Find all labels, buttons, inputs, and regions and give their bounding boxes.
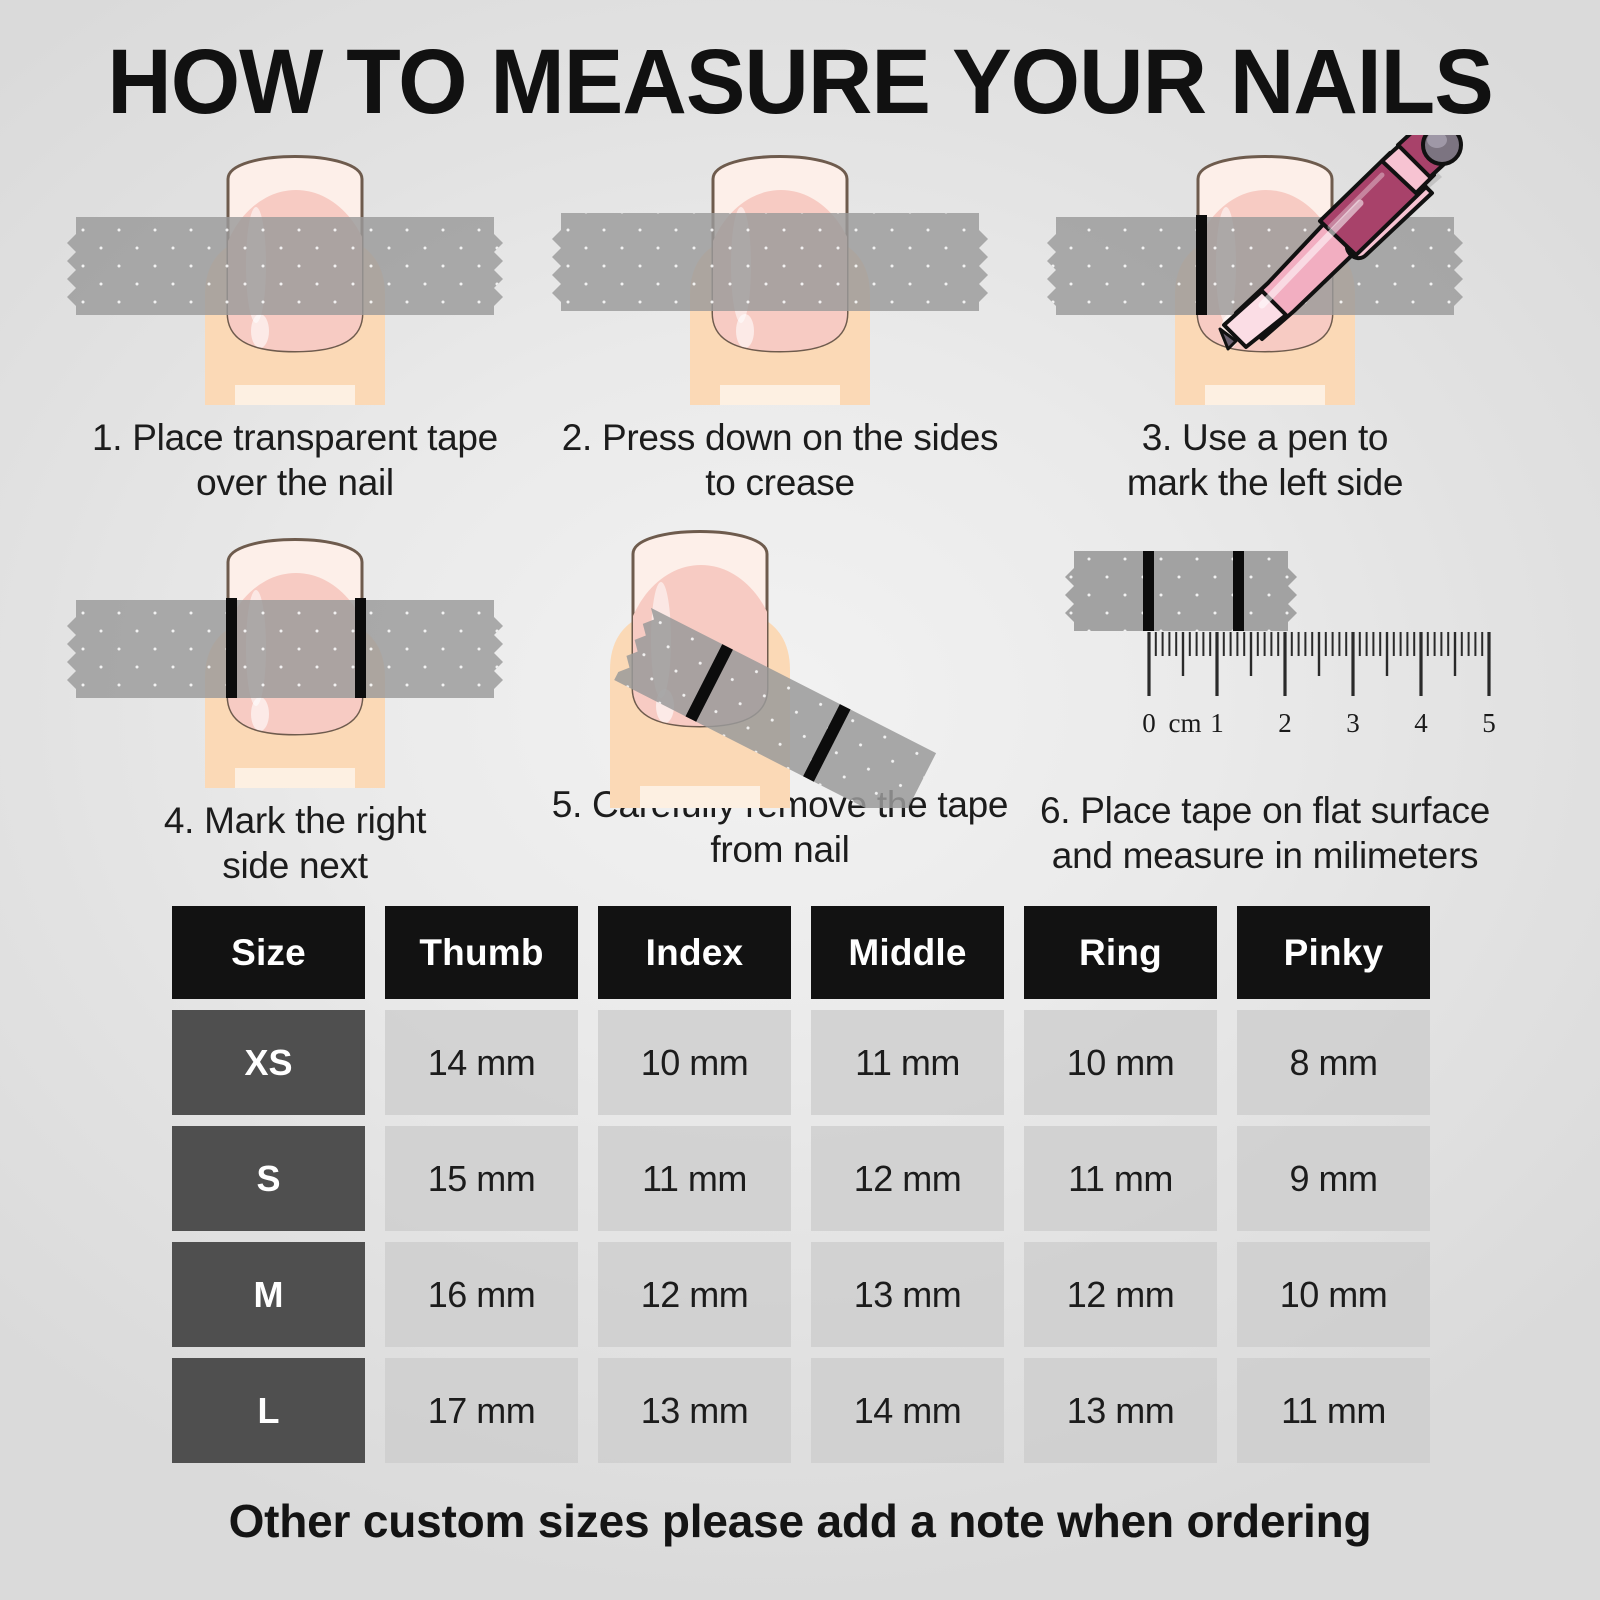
measure-cell-index: 11 mm <box>598 1126 791 1231</box>
finger-illustration-tape-removed <box>545 518 1015 808</box>
step-2-caption-line2: to crease <box>545 460 1015 505</box>
ruler-unit-label: cm <box>1167 708 1203 739</box>
left-mark <box>226 598 237 698</box>
finger-illustration-creased <box>545 135 1015 405</box>
step-1-caption-line1: 1. Place transparent tape <box>60 415 530 460</box>
size-label-cell: XS <box>172 1010 365 1115</box>
step-4-illustration <box>60 518 530 788</box>
measure-cell-ring: 10 mm <box>1024 1010 1217 1115</box>
step-1-caption-line2: over the nail <box>60 460 530 505</box>
step-2-caption-line1: 2. Press down on the sides <box>545 415 1015 460</box>
measure-cell-thumb: 17 mm <box>385 1358 578 1463</box>
step-3-caption-line2: mark the left side <box>1030 460 1500 505</box>
page-title: HOW TO MEASURE YOUR NAILS <box>24 30 1576 135</box>
infographic-page: HOW TO MEASURE YOUR NAILS <box>0 0 1600 1600</box>
table-header-pinky: Pinky <box>1237 906 1430 999</box>
finger-illustration-both-marks <box>60 518 530 788</box>
measure-cell-thumb: 16 mm <box>385 1242 578 1347</box>
tape-strip <box>67 600 503 698</box>
size-label-cell: M <box>172 1242 365 1347</box>
step-5-illustration <box>545 518 1015 788</box>
step-3-caption-line1: 3. Use a pen to <box>1030 415 1500 460</box>
measure-cell-ring: 13 mm <box>1024 1358 1217 1463</box>
step-2-illustration <box>545 135 1015 405</box>
measure-cell-pinky: 11 mm <box>1237 1358 1430 1463</box>
tape-strip <box>67 217 503 315</box>
measure-cell-thumb: 14 mm <box>385 1010 578 1115</box>
table-header-middle: Middle <box>811 906 1004 999</box>
ruler-label-5: 5 <box>1471 708 1507 739</box>
step-3-caption: 3. Use a pen to mark the left side <box>1030 415 1500 505</box>
step-4-caption-line1: 4. Mark the right <box>60 798 530 843</box>
measure-cell-thumb: 15 mm <box>385 1126 578 1231</box>
table-body: XS14 mm10 mm11 mm10 mm8 mmS15 mm11 mm12 … <box>172 1010 1436 1463</box>
step-1-illustration <box>60 135 530 405</box>
step-5: 5. Carefully remove the tape from nail <box>545 518 1015 872</box>
ruler-label-1: 1 <box>1199 708 1235 739</box>
step-3-illustration <box>1030 135 1500 405</box>
measure-cell-ring: 12 mm <box>1024 1242 1217 1347</box>
footnote: Other custom sizes please add a note whe… <box>0 1494 1600 1548</box>
left-mark <box>1196 215 1207 315</box>
table-row: S15 mm11 mm12 mm11 mm9 mm <box>172 1126 1436 1231</box>
step-6-illustration: 012345cm <box>1030 518 1500 788</box>
measure-cell-pinky: 8 mm <box>1237 1010 1430 1115</box>
table-row: L17 mm13 mm14 mm13 mm11 mm <box>172 1358 1436 1463</box>
tape-strip-creased <box>552 213 988 311</box>
step-6-caption-line2: and measure in milimeters <box>1030 833 1500 878</box>
size-table: SizeThumbIndexMiddleRingPinky XS14 mm10 … <box>172 906 1436 1474</box>
size-label-cell: S <box>172 1126 365 1231</box>
ruler-scale: 012345cm <box>1030 536 1500 786</box>
step-4: 4. Mark the right side next <box>60 518 530 888</box>
measure-cell-pinky: 9 mm <box>1237 1126 1430 1231</box>
step-2-caption: 2. Press down on the sides to crease <box>545 415 1015 505</box>
step-6: 012345cm 6. Place tape on flat surface a… <box>1030 518 1500 878</box>
measure-cell-pinky: 10 mm <box>1237 1242 1430 1347</box>
measure-cell-middle: 11 mm <box>811 1010 1004 1115</box>
measure-cell-index: 10 mm <box>598 1010 791 1115</box>
ruler-label-0: 0 <box>1131 708 1167 739</box>
table-row: XS14 mm10 mm11 mm10 mm8 mm <box>172 1010 1436 1115</box>
measure-cell-middle: 13 mm <box>811 1242 1004 1347</box>
step-1-caption: 1. Place transparent tape over the nail <box>60 415 530 505</box>
measure-cell-index: 13 mm <box>598 1358 791 1463</box>
table-header-ring: Ring <box>1024 906 1217 999</box>
ruler-label-4: 4 <box>1403 708 1439 739</box>
table-header-index: Index <box>598 906 791 999</box>
table-header-thumb: Thumb <box>385 906 578 999</box>
right-mark <box>355 598 366 698</box>
step-3: 3. Use a pen to mark the left side <box>1030 135 1500 505</box>
size-label-cell: L <box>172 1358 365 1463</box>
step-4-caption: 4. Mark the right side next <box>60 798 530 888</box>
measure-cell-index: 12 mm <box>598 1242 791 1347</box>
step-5-caption-line2: from nail <box>545 827 1015 872</box>
measure-cell-middle: 12 mm <box>811 1126 1004 1231</box>
measure-cell-ring: 11 mm <box>1024 1126 1217 1231</box>
ruler-label-2: 2 <box>1267 708 1303 739</box>
step-2: 2. Press down on the sides to crease <box>545 135 1015 505</box>
measure-cell-middle: 14 mm <box>811 1358 1004 1463</box>
step-4-caption-line2: side next <box>60 843 530 888</box>
table-header-size: Size <box>172 906 365 999</box>
ruler-label-3: 3 <box>1335 708 1371 739</box>
finger-illustration-pen <box>1030 135 1500 405</box>
step-1: 1. Place transparent tape over the nail <box>60 135 530 505</box>
table-row: M16 mm12 mm13 mm12 mm10 mm <box>172 1242 1436 1347</box>
finger-illustration <box>60 135 530 405</box>
table-header-row: SizeThumbIndexMiddleRingPinky <box>172 906 1436 999</box>
